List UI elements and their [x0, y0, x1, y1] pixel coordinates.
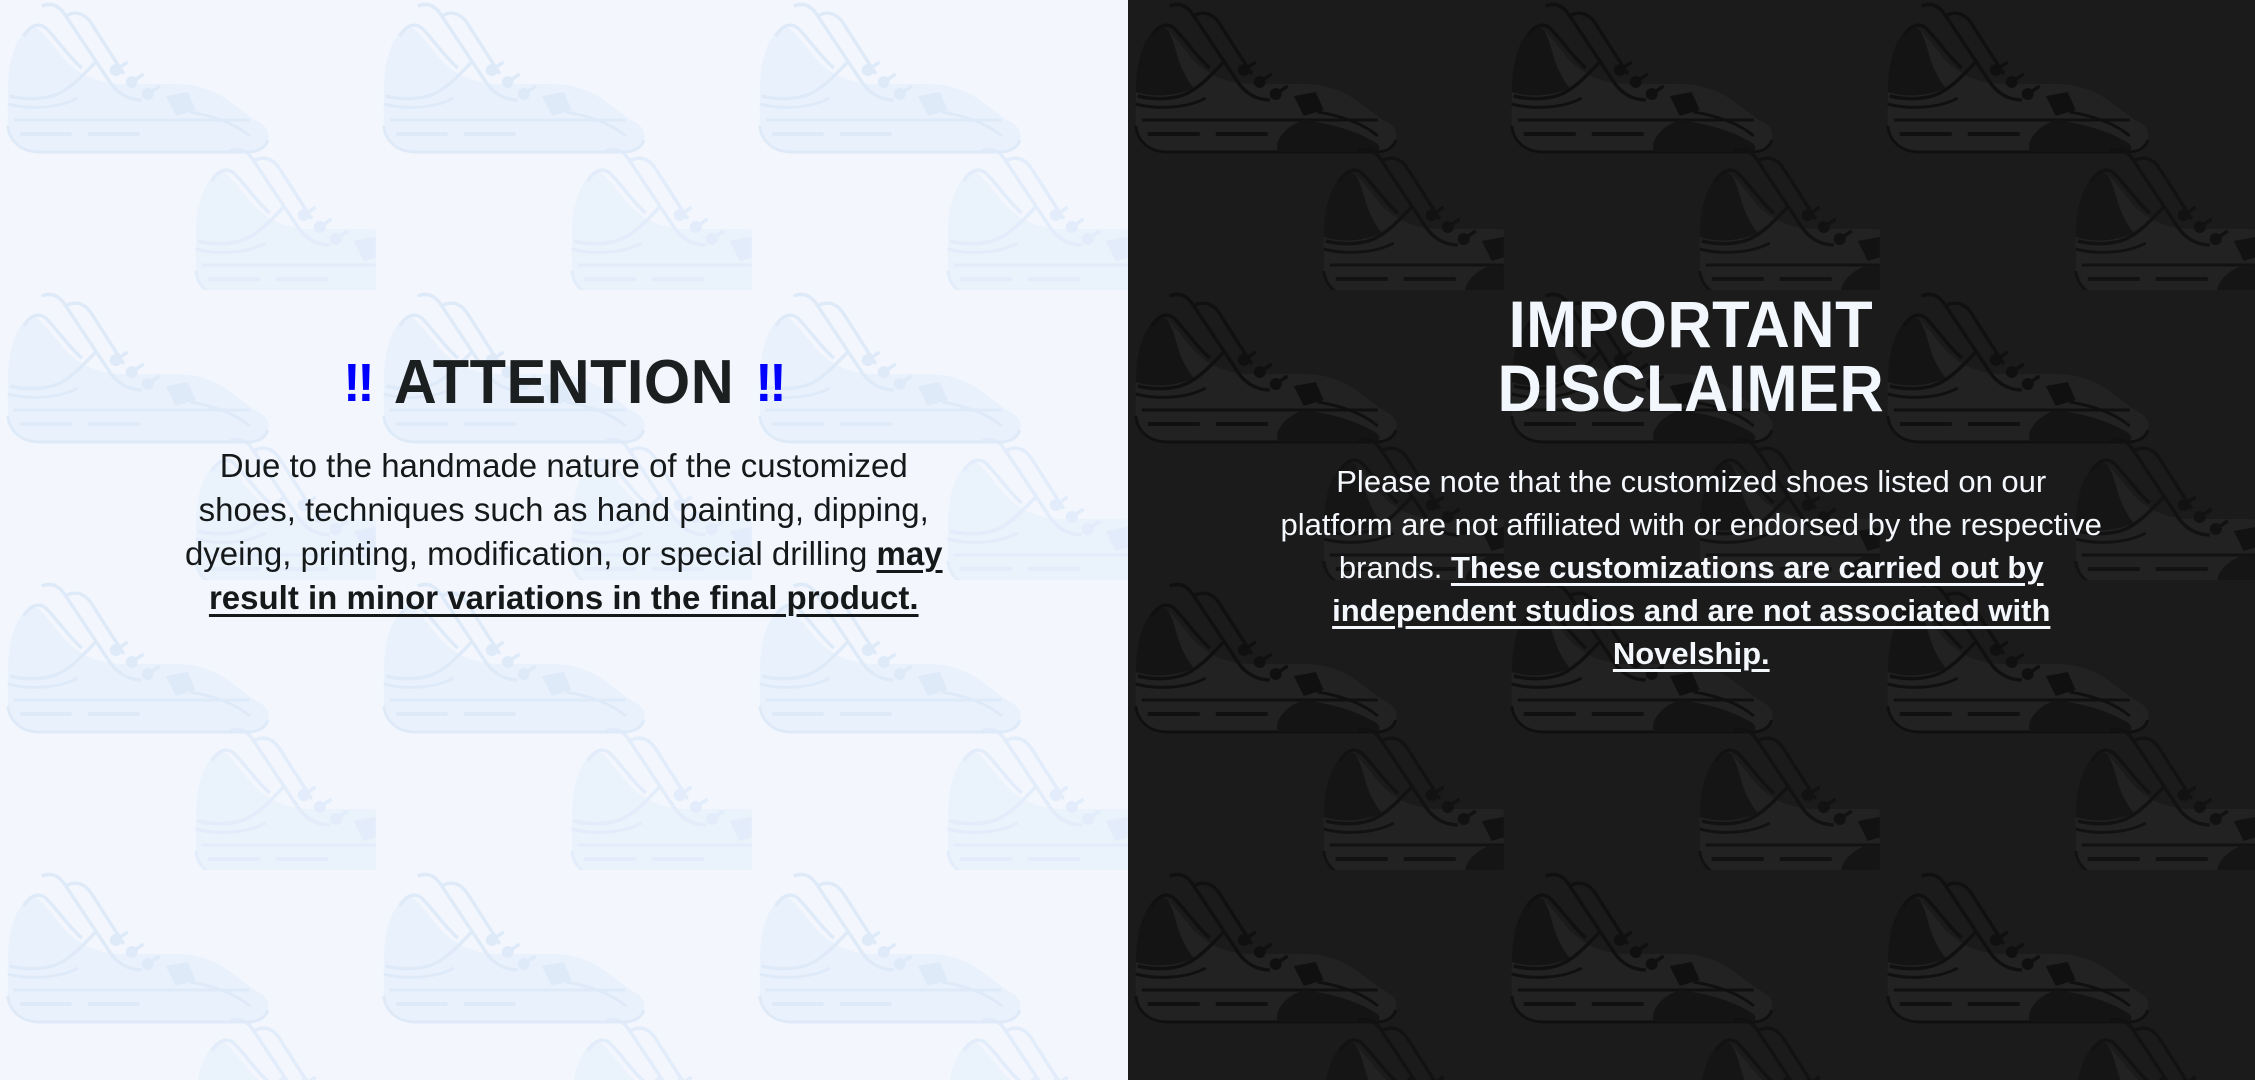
- promo-banner: ‼ATTENTION‼ Due to the handmade nature o…: [0, 0, 2255, 1080]
- disclaimer-heading: IMPORTANT DISCLAIMER: [1498, 292, 1885, 420]
- attention-body: Due to the handmade nature of the custom…: [179, 444, 949, 620]
- attention-content: ‼ATTENTION‼ Due to the handmade nature o…: [0, 0, 1128, 620]
- disclaimer-panel: IMPORTANT DISCLAIMER Please note that th…: [1128, 0, 2255, 1080]
- attention-panel: ‼ATTENTION‼ Due to the handmade nature o…: [0, 0, 1128, 1080]
- disclaimer-content: IMPORTANT DISCLAIMER Please note that th…: [1128, 0, 2255, 675]
- disclaimer-body: Please note that the customized shoes li…: [1276, 460, 2106, 675]
- double-exclamation-left-icon: ‼: [343, 353, 372, 413]
- attention-body-normal: Due to the handmade nature of the custom…: [185, 447, 929, 572]
- disclaimer-heading-line2: DISCLAIMER: [1498, 356, 1885, 420]
- attention-heading-text: ATTENTION: [394, 348, 734, 417]
- disclaimer-heading-line1: IMPORTANT: [1498, 292, 1885, 356]
- double-exclamation-right-icon: ‼: [755, 353, 784, 413]
- attention-heading: ‼ATTENTION‼: [343, 352, 785, 414]
